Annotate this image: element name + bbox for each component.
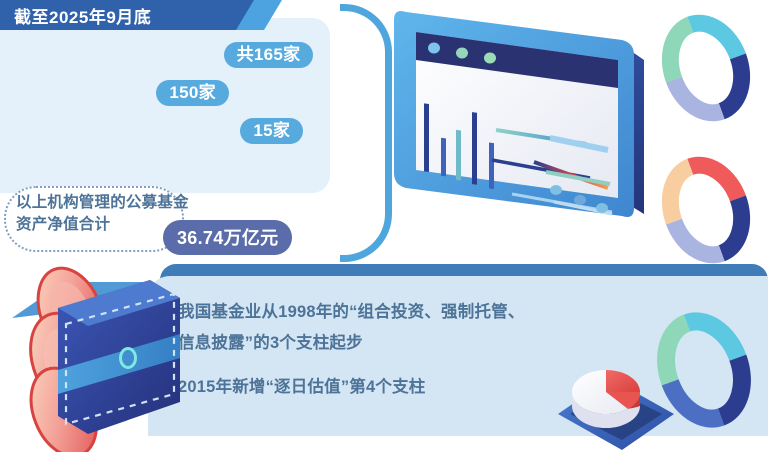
narrative-line-1: 我国基金业从1998年的“组合投资、强制托管、 bbox=[178, 297, 658, 328]
laptop-dashboard-icon bbox=[386, 2, 658, 294]
donut-ring-icon bbox=[648, 146, 764, 274]
donut-ring-icon bbox=[648, 4, 764, 132]
page-title: 截至2025年9月底 bbox=[0, 3, 151, 28]
pie-chart-3d-icon bbox=[548, 352, 684, 452]
highlight-badge: 36.74万亿元 bbox=[163, 220, 292, 255]
stat-badge: 共165家 bbox=[224, 42, 314, 69]
header-ribbon: 截至2025年9月底 bbox=[0, 0, 236, 30]
wallet-coins-icon bbox=[2, 252, 192, 452]
infographic-canvas: 截至2025年9月底 我国境内公募基金管理机构 共165家 其中基金管理公司 1… bbox=[0, 0, 768, 452]
stat-badge: 15家 bbox=[240, 118, 303, 145]
stat-badge: 150家 bbox=[156, 80, 229, 107]
highlight-line-1: 以上机构管理的公募基金 bbox=[16, 192, 246, 214]
